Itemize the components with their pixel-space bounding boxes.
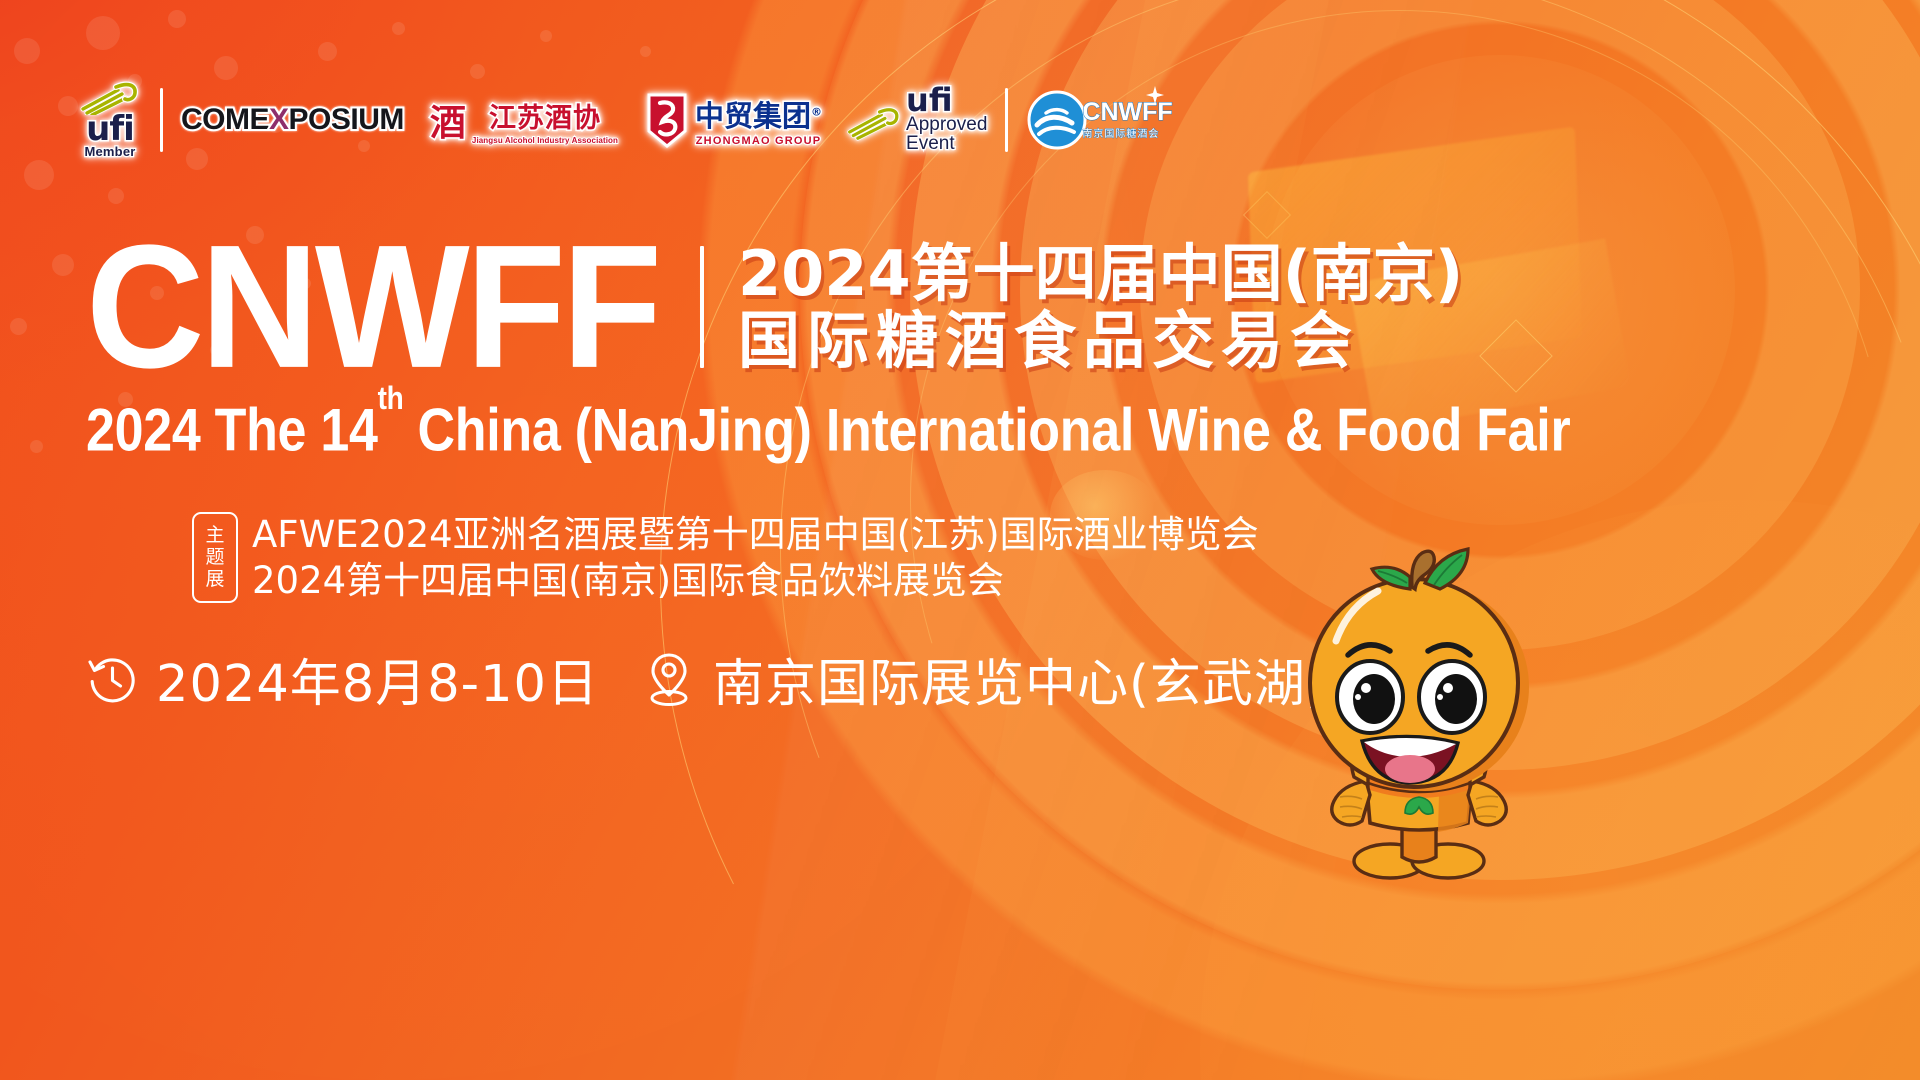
logo-divider-2 — [1005, 88, 1008, 152]
theme-line-1: AFWE2024亚洲名酒展暨第十四届中国(江苏)国际酒业博览会 — [252, 512, 1259, 557]
ufi-wordmark: ufi — [86, 115, 134, 144]
location-pin-icon — [643, 651, 695, 707]
chinese-title-line-1: 2024第十四届中国(南京) — [738, 242, 1463, 305]
ufi-approved-swoosh-icon — [846, 102, 904, 142]
title-vertical-divider — [700, 246, 704, 368]
event-acronym: CNWFF — [86, 227, 658, 388]
english-title: 2024 The 14th China (NanJing) Internatio… — [86, 396, 1570, 466]
jiangsu-seal-character: 酒 — [430, 94, 466, 146]
english-title-prefix: 2024 The 14 — [86, 397, 378, 464]
registered-mark-icon: ® — [811, 105, 822, 118]
event-date-text: 2024年8月8-10日 — [156, 642, 599, 716]
theme-line-2: 2024第十四届中国(南京)国际食品饮料展览会 — [252, 558, 1259, 603]
zhongmao-english-name: ZHONGMAO GROUP — [696, 135, 822, 147]
event-banner: ufi Member COMEXPOSIUM 酒 江苏酒协 Jiangsu Al… — [0, 0, 1920, 1080]
cnwff-logo-chinese: 南京国际糖酒会 — [1082, 125, 1159, 140]
main-title-row: CNWFF 2024第十四届中国(南京) 国际糖酒食品交易会 — [86, 232, 1463, 383]
cnwff-circular-logo[interactable]: CNWFF 南京国际糖酒会 — [1026, 78, 1172, 162]
diamond-outline-1 — [1479, 319, 1553, 393]
ufi-approved-event-logo[interactable]: ufi Approved Event — [846, 78, 987, 162]
theme-lines: AFWE2024亚洲名酒展暨第十四届中国(江苏)国际酒业博览会 2024第十四届… — [252, 512, 1259, 603]
sparkle-icon — [1145, 85, 1165, 105]
jiangsu-chinese-name: 江苏酒协 — [489, 96, 601, 135]
event-meta-row: 2024年8月8-10日 南京国际展览中心(玄武湖) — [86, 642, 1327, 716]
ufi-member-tagline: Member — [84, 144, 135, 159]
event-location-item: 南京国际展览中心(玄武湖) — [643, 642, 1327, 716]
english-title-suffix: China (NanJing) International Wine & Foo… — [403, 397, 1570, 464]
english-title-ordinal: th — [378, 380, 404, 416]
theme-badge-char-2: 题 — [205, 547, 224, 568]
event-date-item: 2024年8月8-10日 — [86, 642, 599, 716]
clock-icon — [86, 653, 138, 705]
theme-badge-char-3: 展 — [205, 569, 224, 590]
ufi-approved-wordmark: ufi — [906, 87, 953, 114]
comexposium-logo[interactable]: COMEXPOSIUM — [181, 78, 404, 162]
comexposium-text-before: COME — [181, 103, 269, 136]
partner-logo-bar: ufi Member COMEXPOSIUM 酒 江苏酒协 Jiangsu Al… — [78, 78, 1173, 162]
chinese-title: 2024第十四届中国(南京) 国际糖酒食品交易会 — [738, 242, 1463, 372]
ufi-approved-line2: Approved — [906, 115, 987, 134]
orange-fruit-mascot — [1262, 545, 1562, 885]
ufi-approved-line3: Event — [906, 134, 955, 153]
event-location-text: 南京国际展览中心(玄武湖) — [713, 642, 1327, 716]
jiangsu-english-name: Jiangsu Alcohol Industry Association — [472, 136, 618, 145]
jiangsu-association-logo[interactable]: 酒 江苏酒协 Jiangsu Alcohol Industry Associat… — [430, 78, 618, 162]
theme-exhibition-row: 主 题 展 AFWE2024亚洲名酒展暨第十四届中国(江苏)国际酒业博览会 20… — [192, 512, 1259, 603]
comexposium-x-accent: X — [269, 103, 289, 136]
ufi-member-logo[interactable]: ufi Member — [78, 78, 142, 162]
theme-badge: 主 题 展 — [192, 512, 238, 603]
zhongmao-group-logo[interactable]: 中贸集团® ZHONGMAO GROUP — [644, 78, 822, 162]
logo-divider-1 — [160, 88, 163, 152]
chinese-title-line-2: 国际糖酒食品交易会 — [738, 309, 1463, 372]
zhongmao-dragon-icon — [644, 92, 690, 148]
zhongmao-chinese-name: 中贸集团® — [695, 93, 822, 135]
cnwff-wave-circle-icon — [1026, 89, 1088, 151]
theme-badge-char-1: 主 — [205, 525, 224, 546]
comexposium-text-after: POSIUM — [289, 103, 404, 136]
